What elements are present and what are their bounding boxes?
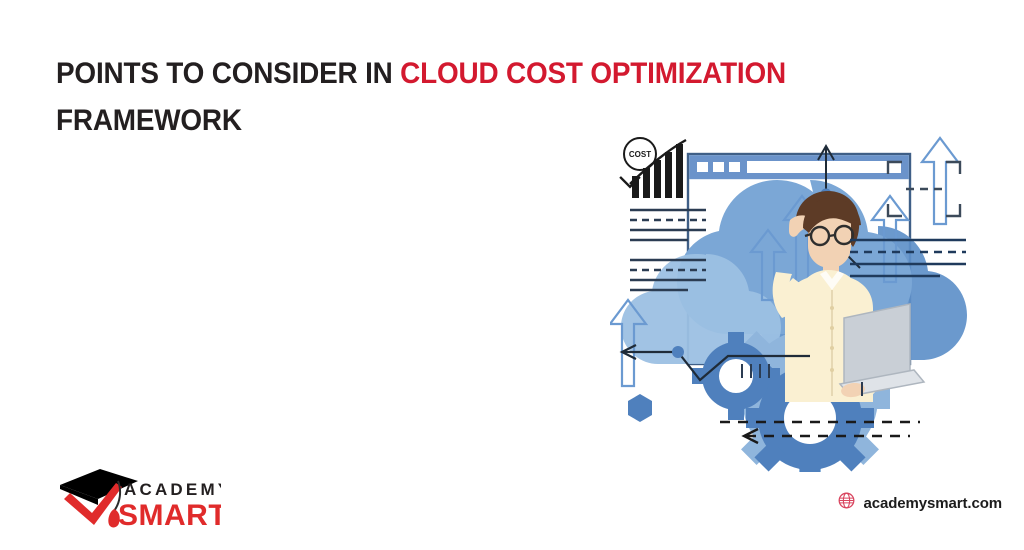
hexagon-icon: [628, 394, 652, 422]
cloud-cost-optimization-illustration: COST: [610, 132, 1010, 472]
logo-word-academy: ACADEMY: [124, 480, 221, 499]
page-title: POINTS TO CONSIDER IN CLOUD COST OPTIMIZ…: [56, 50, 819, 144]
slide-canvas: POINTS TO CONSIDER IN CLOUD COST OPTIMIZ…: [0, 0, 1024, 550]
node-dot-graph: [672, 346, 684, 358]
website-url[interactable]: academysmart.com: [864, 495, 1002, 512]
page-title-accent: CLOUD COST OPTIMIZATION: [400, 57, 786, 90]
academy-smart-logo[interactable]: ACADEMY SMART: [56, 465, 221, 535]
page-title-part1: POINTS TO CONSIDER IN: [56, 57, 400, 90]
website-footer[interactable]: academysmart.com: [838, 492, 1002, 514]
cost-badge-label: COST: [629, 150, 651, 159]
page-title-part2: FRAMEWORK: [56, 104, 242, 137]
globe-icon: [838, 492, 855, 514]
logo-word-smart: SMART: [118, 499, 221, 532]
